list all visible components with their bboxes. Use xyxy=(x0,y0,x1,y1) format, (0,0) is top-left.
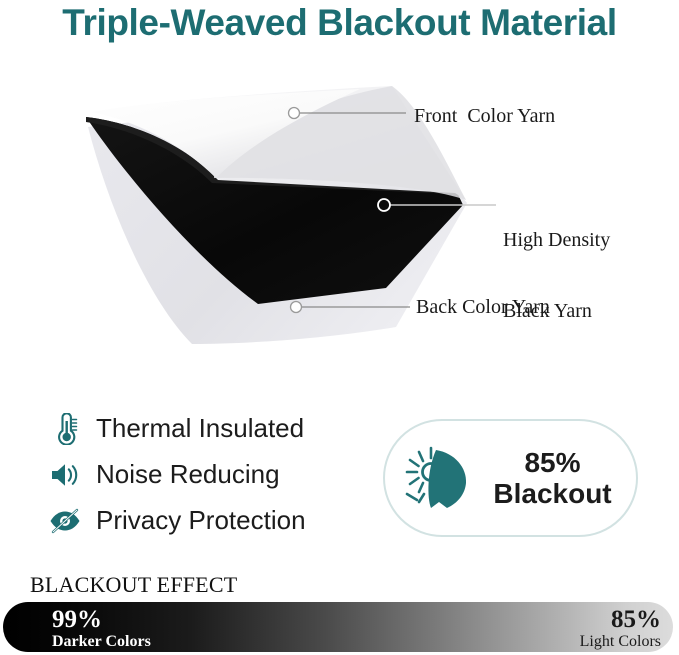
thermometer-icon xyxy=(48,412,82,446)
feature-label: Noise Reducing xyxy=(96,459,280,490)
blackout-badge: 85% Blackout xyxy=(383,419,638,537)
label-front-color-yarn: Front Color Yarn xyxy=(414,105,555,129)
darker-colors-caption: Darker Colors xyxy=(52,634,151,650)
light-colors-percent: 85% xyxy=(580,607,661,632)
speaker-icon xyxy=(48,458,82,492)
blackout-percent: 85% xyxy=(524,447,580,478)
blackout-effect-heading: BLACKOUT EFFECT xyxy=(30,572,237,598)
feature-list: Thermal Insulated Noise Reducing Privacy… xyxy=(48,408,358,546)
label-high-density-line-1: High Density xyxy=(503,229,610,253)
feature-label: Thermal Insulated xyxy=(96,413,304,444)
feature-noise-reducing: Noise Reducing xyxy=(48,454,358,495)
fabric-layers-diagram: Front Color Yarn High Density Black Yarn… xyxy=(0,72,679,352)
sun-curtain-icon xyxy=(403,442,479,514)
light-colors-caption: Light Colors xyxy=(580,634,661,650)
feature-thermal-insulated: Thermal Insulated xyxy=(48,408,358,449)
page-title: Triple-Weaved Blackout Material xyxy=(0,2,679,44)
blackout-effect-darker-colors: 99% Darker Colors xyxy=(52,607,151,650)
blackout-label: Blackout xyxy=(493,478,611,509)
blackout-effect-light-colors: 85% Light Colors xyxy=(580,607,661,650)
darker-colors-percent: 99% xyxy=(52,607,151,632)
label-back-color-yarn: Back Color Yarn xyxy=(416,296,550,320)
label-high-density-black-yarn: High Density Black Yarn xyxy=(503,182,610,371)
eye-off-icon xyxy=(48,504,82,538)
feature-label: Privacy Protection xyxy=(96,505,306,536)
feature-privacy-protection: Privacy Protection xyxy=(48,500,358,541)
blackout-badge-text: 85% Blackout xyxy=(479,447,636,510)
